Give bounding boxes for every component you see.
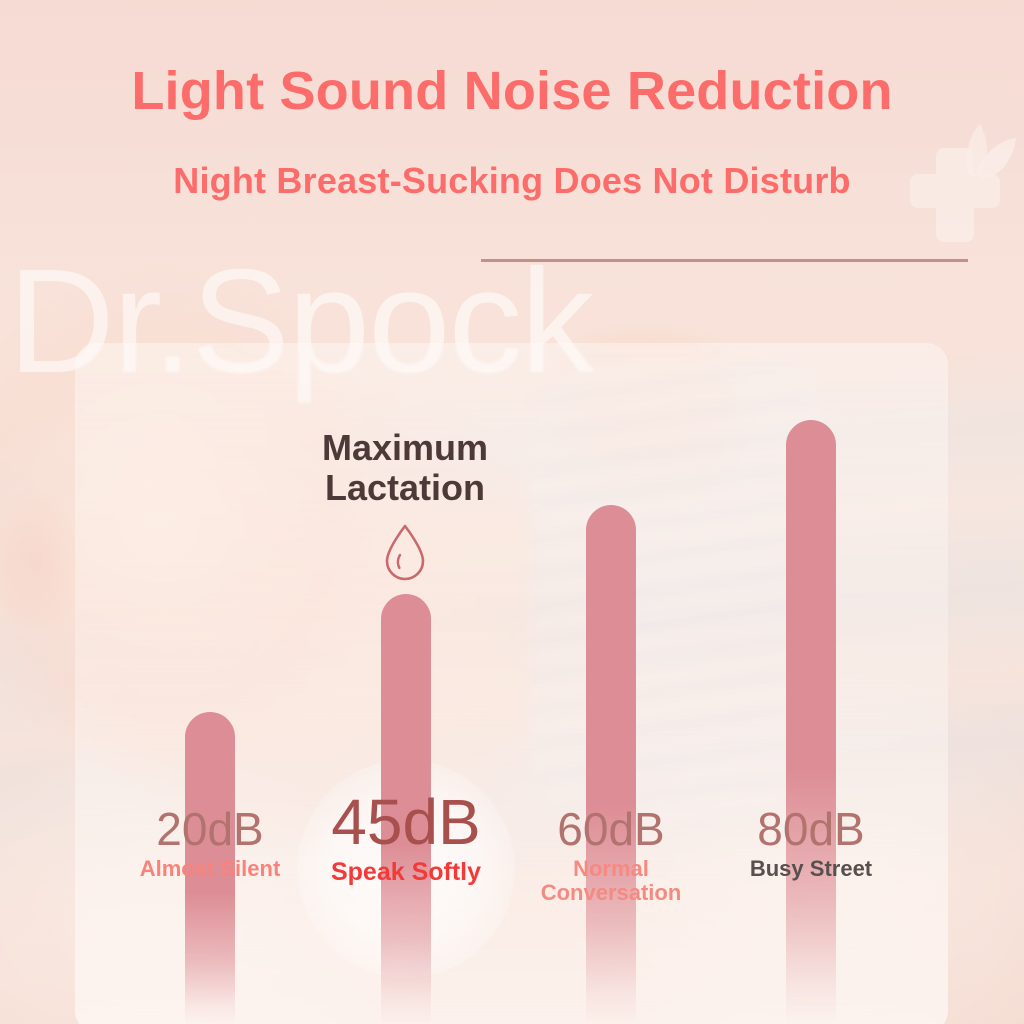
bar-normal-conversation[interactable]	[586, 505, 636, 1024]
maximum-lactation-callout: Maximum Lactation	[285, 428, 525, 583]
header-divider	[481, 259, 968, 262]
label-group-busy-street[interactable]: 80dB Busy Street	[691, 806, 931, 881]
value-label: 80dB	[691, 806, 931, 853]
category-label: Busy Street	[691, 857, 931, 881]
callout-title: Maximum Lactation	[285, 428, 525, 509]
value-label: 45dB	[286, 790, 526, 855]
bar-fill	[786, 420, 836, 1024]
bar-busy-street[interactable]	[786, 420, 836, 1024]
category-label: Speak Softly	[286, 859, 526, 886]
bar-fill	[586, 505, 636, 1024]
label-group-speak-softly[interactable]: 45dB Speak Softly	[286, 790, 526, 886]
promo-graphic: Dr.Spock Light Sound Noise Reduction Nig…	[0, 0, 1024, 1024]
page-title: Light Sound Noise Reduction	[0, 60, 1024, 122]
milk-droplet-icon	[379, 521, 431, 583]
page-subtitle: Night Breast-Sucking Does Not Disturb	[0, 160, 1024, 202]
